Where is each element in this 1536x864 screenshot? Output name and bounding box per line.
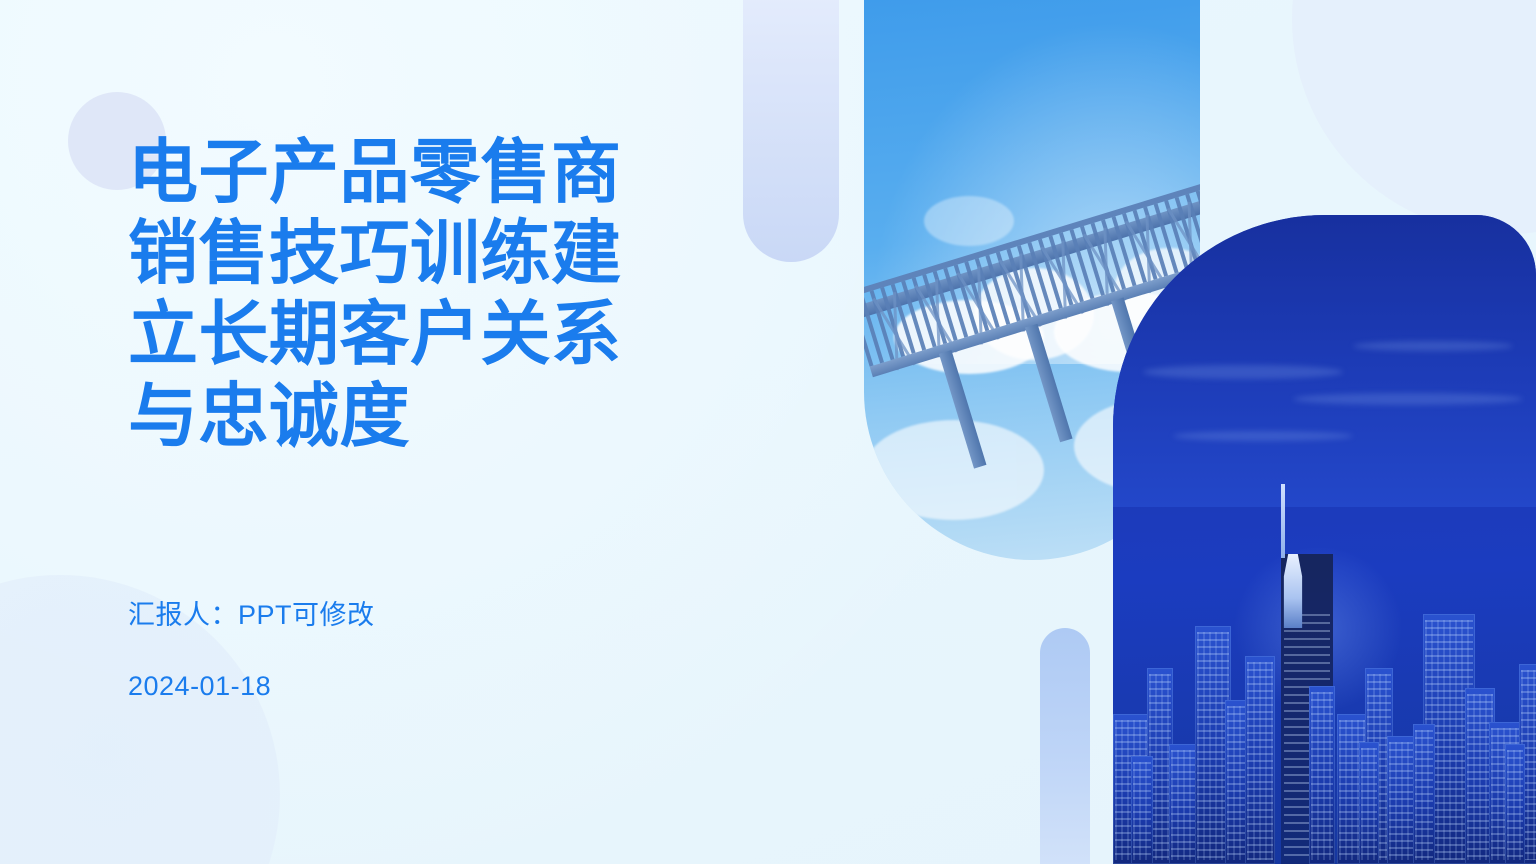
slide-title: 电子产品零售商 销售技巧训练建 立长期客户关系 与忠诚度 [128, 132, 748, 457]
circle-decoration-top-right [1292, 0, 1536, 234]
date-label: 2024-01-18 [128, 673, 375, 700]
cloud-wisp [1293, 393, 1523, 405]
presentation-slide: 电子产品零售商 销售技巧训练建 立长期客户关系 与忠诚度 汇报人：PPT可修改 … [0, 0, 1536, 864]
building [1359, 742, 1379, 864]
cloud-wisp [1353, 341, 1513, 351]
bridge-pier [939, 350, 987, 469]
building [1309, 686, 1335, 864]
building [1131, 756, 1153, 864]
pill-decoration-lavender [743, 0, 839, 262]
bridge-pier [1025, 324, 1073, 443]
meta-block: 汇报人：PPT可修改 2024-01-18 [128, 602, 375, 700]
reporter-label: 汇报人：PPT可修改 [128, 602, 375, 629]
title-block: 电子产品零售商 销售技巧训练建 立长期客户关系 与忠诚度 [128, 132, 748, 457]
cloud-wisp [1143, 365, 1343, 379]
skyline-buildings [1113, 436, 1536, 864]
building [1245, 656, 1275, 864]
building-spire [1281, 484, 1285, 558]
building [1413, 724, 1435, 864]
pill-decoration-blue [1040, 628, 1090, 864]
city-skyline-photo [1113, 215, 1536, 864]
building [1505, 744, 1525, 864]
